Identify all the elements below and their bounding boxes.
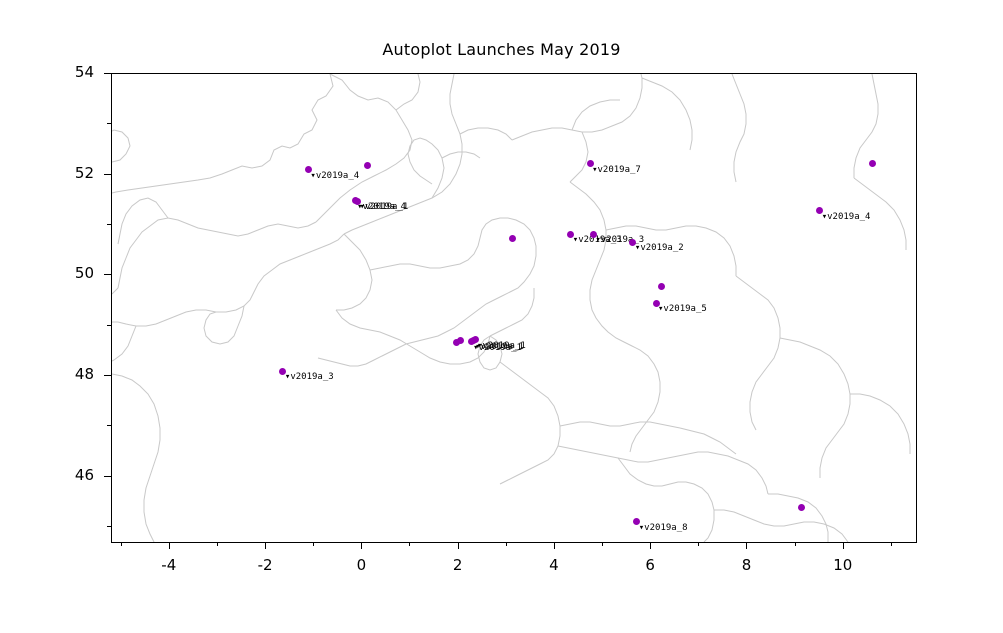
x-tick-major	[169, 542, 170, 549]
y-tick-major	[104, 476, 111, 477]
y-tick-major	[104, 375, 111, 376]
y-tick-major	[104, 73, 111, 74]
x-tick-label: 10	[813, 556, 873, 574]
y-tick-label: 50	[34, 264, 94, 282]
x-tick-label: 0	[331, 556, 391, 574]
y-tick-major	[104, 174, 111, 175]
x-tick-label: 8	[716, 556, 776, 574]
y-tick-label: 48	[34, 365, 94, 383]
chart-title: Autoplot Launches May 2019	[0, 40, 1003, 59]
data-point-label: ▾v2019a_3	[285, 373, 334, 382]
y-tick-label: 54	[34, 63, 94, 81]
data-point-label: ▾v2019a_5	[658, 305, 707, 314]
x-tick-label: 2	[428, 556, 488, 574]
x-tick-label: -2	[235, 556, 295, 574]
y-tick-label: 46	[34, 466, 94, 484]
y-tick-label: 52	[34, 164, 94, 182]
x-tick-major	[843, 542, 844, 549]
x-tick-major	[361, 542, 362, 549]
data-point-marker[interactable]	[364, 162, 371, 169]
data-point-label: ▾v2019a_2	[635, 244, 684, 253]
x-tick-major	[650, 542, 651, 549]
x-tick-label: 4	[524, 556, 584, 574]
data-point-label: ▾v2019a_1	[360, 203, 409, 212]
x-tick-major	[265, 542, 266, 549]
x-tick-major	[746, 542, 747, 549]
data-point-label: ▾v2019a_7	[592, 166, 641, 175]
figure-canvas: Autoplot Launches May 2019 5452504846 -4…	[0, 0, 1003, 633]
plot-area[interactable]: ▾v2019a_4▾v2019a_4▾v2019a_1▾v2019a_7▾v20…	[111, 73, 917, 543]
x-tick-label: 6	[620, 556, 680, 574]
y-tick-major	[104, 274, 111, 275]
data-point-label: ▾v2019a_1	[473, 344, 522, 353]
x-tick-label: -4	[139, 556, 199, 574]
x-tick-major	[554, 542, 555, 549]
data-point-label: ▾v2019a_8	[639, 524, 688, 533]
data-point-label: ▾v2019a_4	[822, 213, 871, 222]
x-tick-major	[458, 542, 459, 549]
data-point-label: ▾v2019a_4	[310, 172, 359, 181]
basemap-outlines	[112, 74, 916, 542]
